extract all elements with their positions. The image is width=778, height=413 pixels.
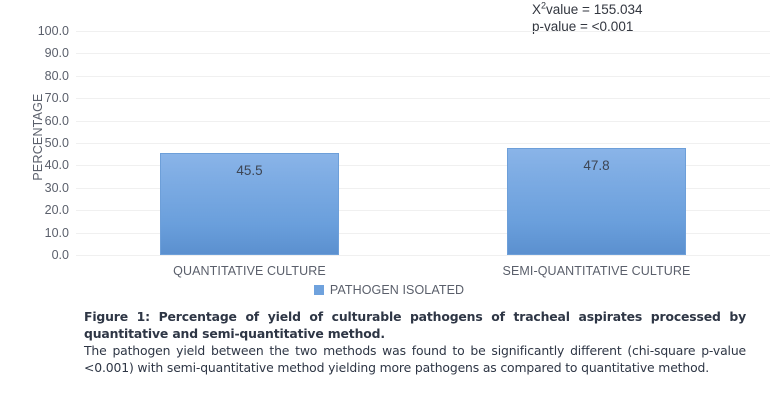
gridline (76, 31, 770, 32)
gridline (76, 76, 770, 77)
y-axis-tick-label: 20.0 (45, 203, 69, 217)
gridline (76, 53, 770, 54)
y-axis-tick-label: 30.0 (45, 181, 69, 195)
bar-chart-figure: X2value = 155.034 p-value = <0.001 PERCE… (0, 0, 778, 300)
y-axis-tick-label: 10.0 (45, 226, 69, 240)
bar-value-label: 47.8 (508, 158, 685, 173)
y-axis-tick-label: 90.0 (45, 46, 69, 60)
gridline (76, 255, 770, 256)
statistics-annotation: X2value = 155.034 p-value = <0.001 (532, 1, 643, 35)
chart-legend: PATHOGEN ISOLATED (0, 283, 778, 297)
y-axis-title: PERCENTAGE (31, 62, 45, 212)
bar-value-label: 45.5 (161, 163, 338, 178)
gridline (76, 98, 770, 99)
y-axis-tick-label: 0.0 (52, 248, 69, 262)
chi-square-value-line: X2value = 155.034 (532, 1, 643, 18)
gridline (76, 143, 770, 144)
chi-square-text: value = 155.034 (546, 2, 642, 17)
caption-block: Figure 1: Percentage of yield of cultura… (84, 309, 746, 376)
gridline (76, 121, 770, 122)
y-axis-tick-label: 80.0 (45, 69, 69, 83)
legend-color-swatch (314, 285, 324, 295)
y-axis-tick-label: 40.0 (45, 158, 69, 172)
legend-label: PATHOGEN ISOLATED (330, 283, 464, 297)
figure-description: The pathogen yield between the two metho… (84, 343, 746, 376)
x-axis-category-label: SEMI-QUANTITATIVE CULTURE (503, 264, 691, 278)
bar[interactable]: 47.8 (507, 148, 686, 255)
plot-area: 100.090.080.070.060.050.040.030.020.010.… (76, 31, 770, 255)
chi-square-symbol: X (532, 2, 541, 17)
y-axis-tick-label: 100.0 (38, 24, 69, 38)
y-axis-tick-label: 60.0 (45, 114, 69, 128)
y-axis-tick-label: 70.0 (45, 91, 69, 105)
bar[interactable]: 45.5 (160, 153, 339, 255)
figure-caption: Figure 1: Percentage of yield of cultura… (84, 309, 746, 342)
y-axis-tick-label: 50.0 (45, 136, 69, 150)
x-axis-category-label: QUANTITATIVE CULTURE (173, 264, 326, 278)
